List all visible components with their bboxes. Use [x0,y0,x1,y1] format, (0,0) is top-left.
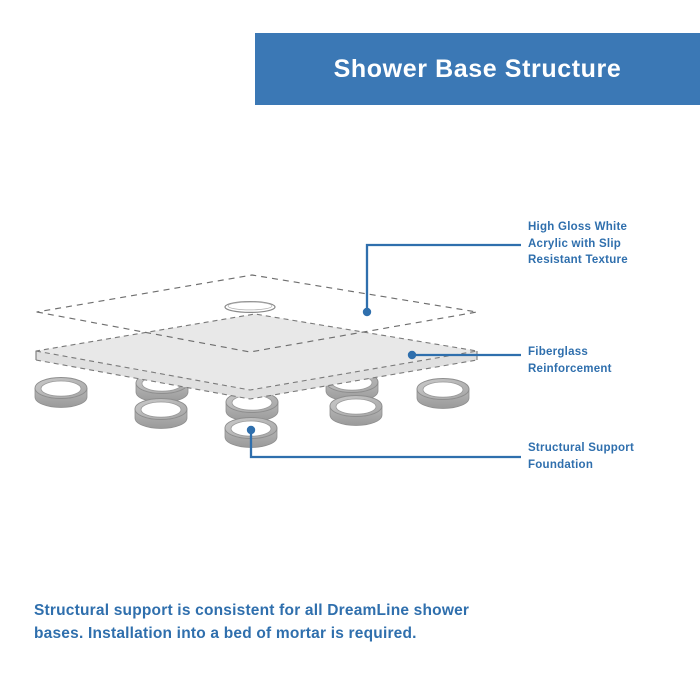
support-ring [417,379,469,409]
callout-acrylic-label: High Gloss White Acrylic with Slip Resis… [528,219,628,269]
drain-opening-icon [225,302,275,313]
support-ring [330,396,382,426]
callout-support-label: Structural Support Foundation [528,440,634,473]
support-ring [135,399,187,429]
callout-leader-support [247,426,521,457]
callout-fiberglass-label: Fiberglass Reinforcement [528,344,612,377]
page-root: Shower Base Structure [0,0,700,700]
support-ring [35,378,87,408]
footer-note: Structural support is consistent for all… [34,599,504,646]
callout-leader-acrylic [363,245,521,316]
